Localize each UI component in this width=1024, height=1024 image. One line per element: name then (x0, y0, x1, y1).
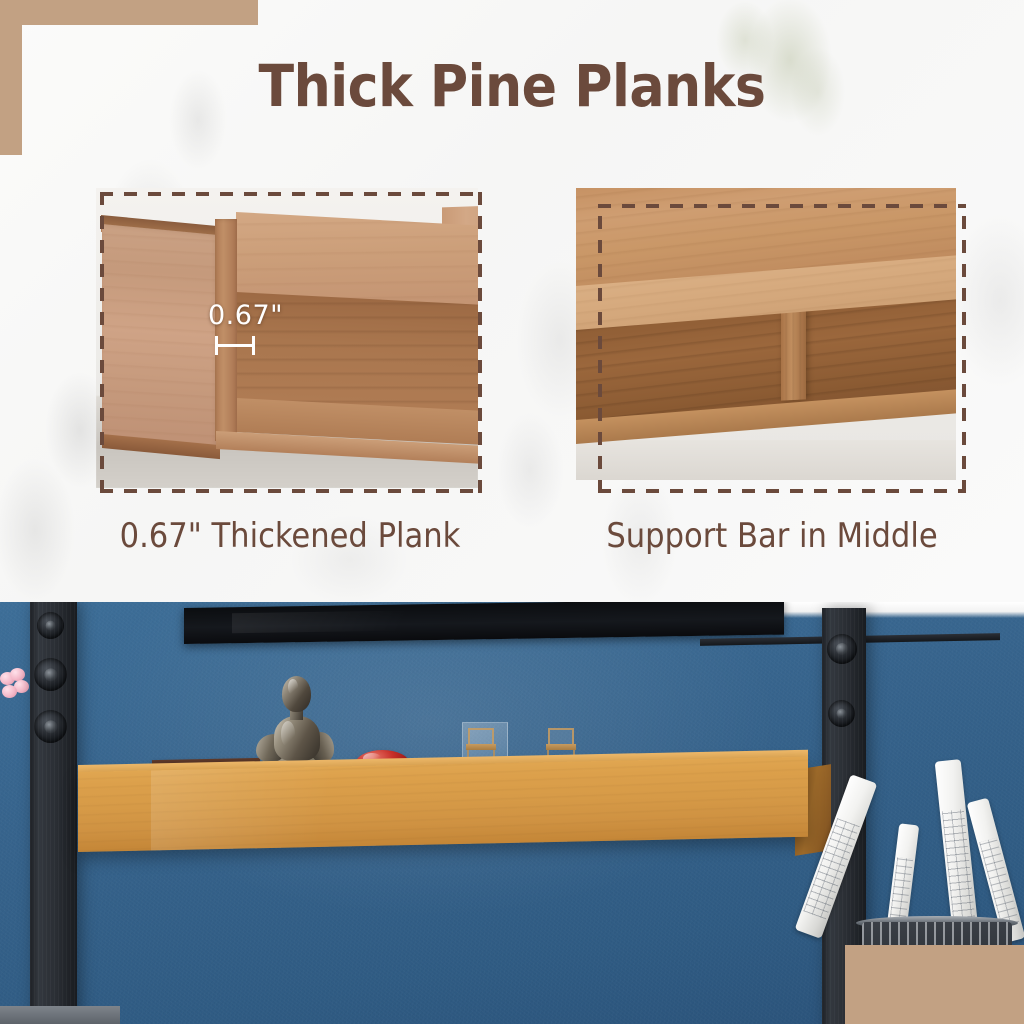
dimension-bracket (215, 336, 255, 355)
wood-box-end-panel (102, 224, 218, 449)
blossom-petal (2, 685, 17, 698)
support-bar (781, 307, 806, 400)
speaker-driver (34, 710, 67, 743)
speaker-tower-left (30, 602, 77, 1024)
floor-strip (0, 1006, 120, 1024)
speaker-driver (34, 658, 67, 691)
statue-head (282, 676, 311, 712)
bottom-corner-block (845, 945, 1024, 1024)
blossom-petal (10, 668, 25, 681)
feature-photo-support-bar (576, 188, 956, 480)
speaker-dome (836, 643, 848, 655)
floor-surface (576, 440, 956, 480)
speaker-dome (44, 720, 57, 733)
speaker-dome (44, 668, 57, 681)
feature-card-support-bar (576, 188, 966, 493)
dimension-label-067: 0.67" (208, 300, 283, 331)
infographic-page: Thick Pine Planks 0.67" (0, 0, 1024, 1024)
speaker-dome (45, 620, 56, 631)
dimension-line (215, 344, 255, 347)
cherry-blossom-sprig (0, 668, 34, 710)
feature-photo-thickened-plank: 0.67" (96, 188, 478, 488)
speaker-dome (836, 708, 847, 719)
caption-thickened-plank: 0.67" Thickened Plank (40, 516, 540, 556)
statue-torso (274, 716, 320, 761)
page-title: Thick Pine Planks (0, 52, 1024, 120)
top-content-panel: Thick Pine Planks 0.67" (0, 0, 1024, 602)
corner-bracket-horizontal-bar (0, 0, 258, 25)
speaker-driver (827, 634, 857, 664)
speaker-driver (37, 612, 64, 639)
feature-card-thickened-plank: 0.67" (96, 188, 482, 493)
dimension-cap-right (252, 336, 255, 355)
floating-wood-shelf (78, 757, 808, 852)
speaker-driver (828, 700, 855, 727)
caption-support-bar: Support Bar in Middle (532, 516, 1012, 556)
